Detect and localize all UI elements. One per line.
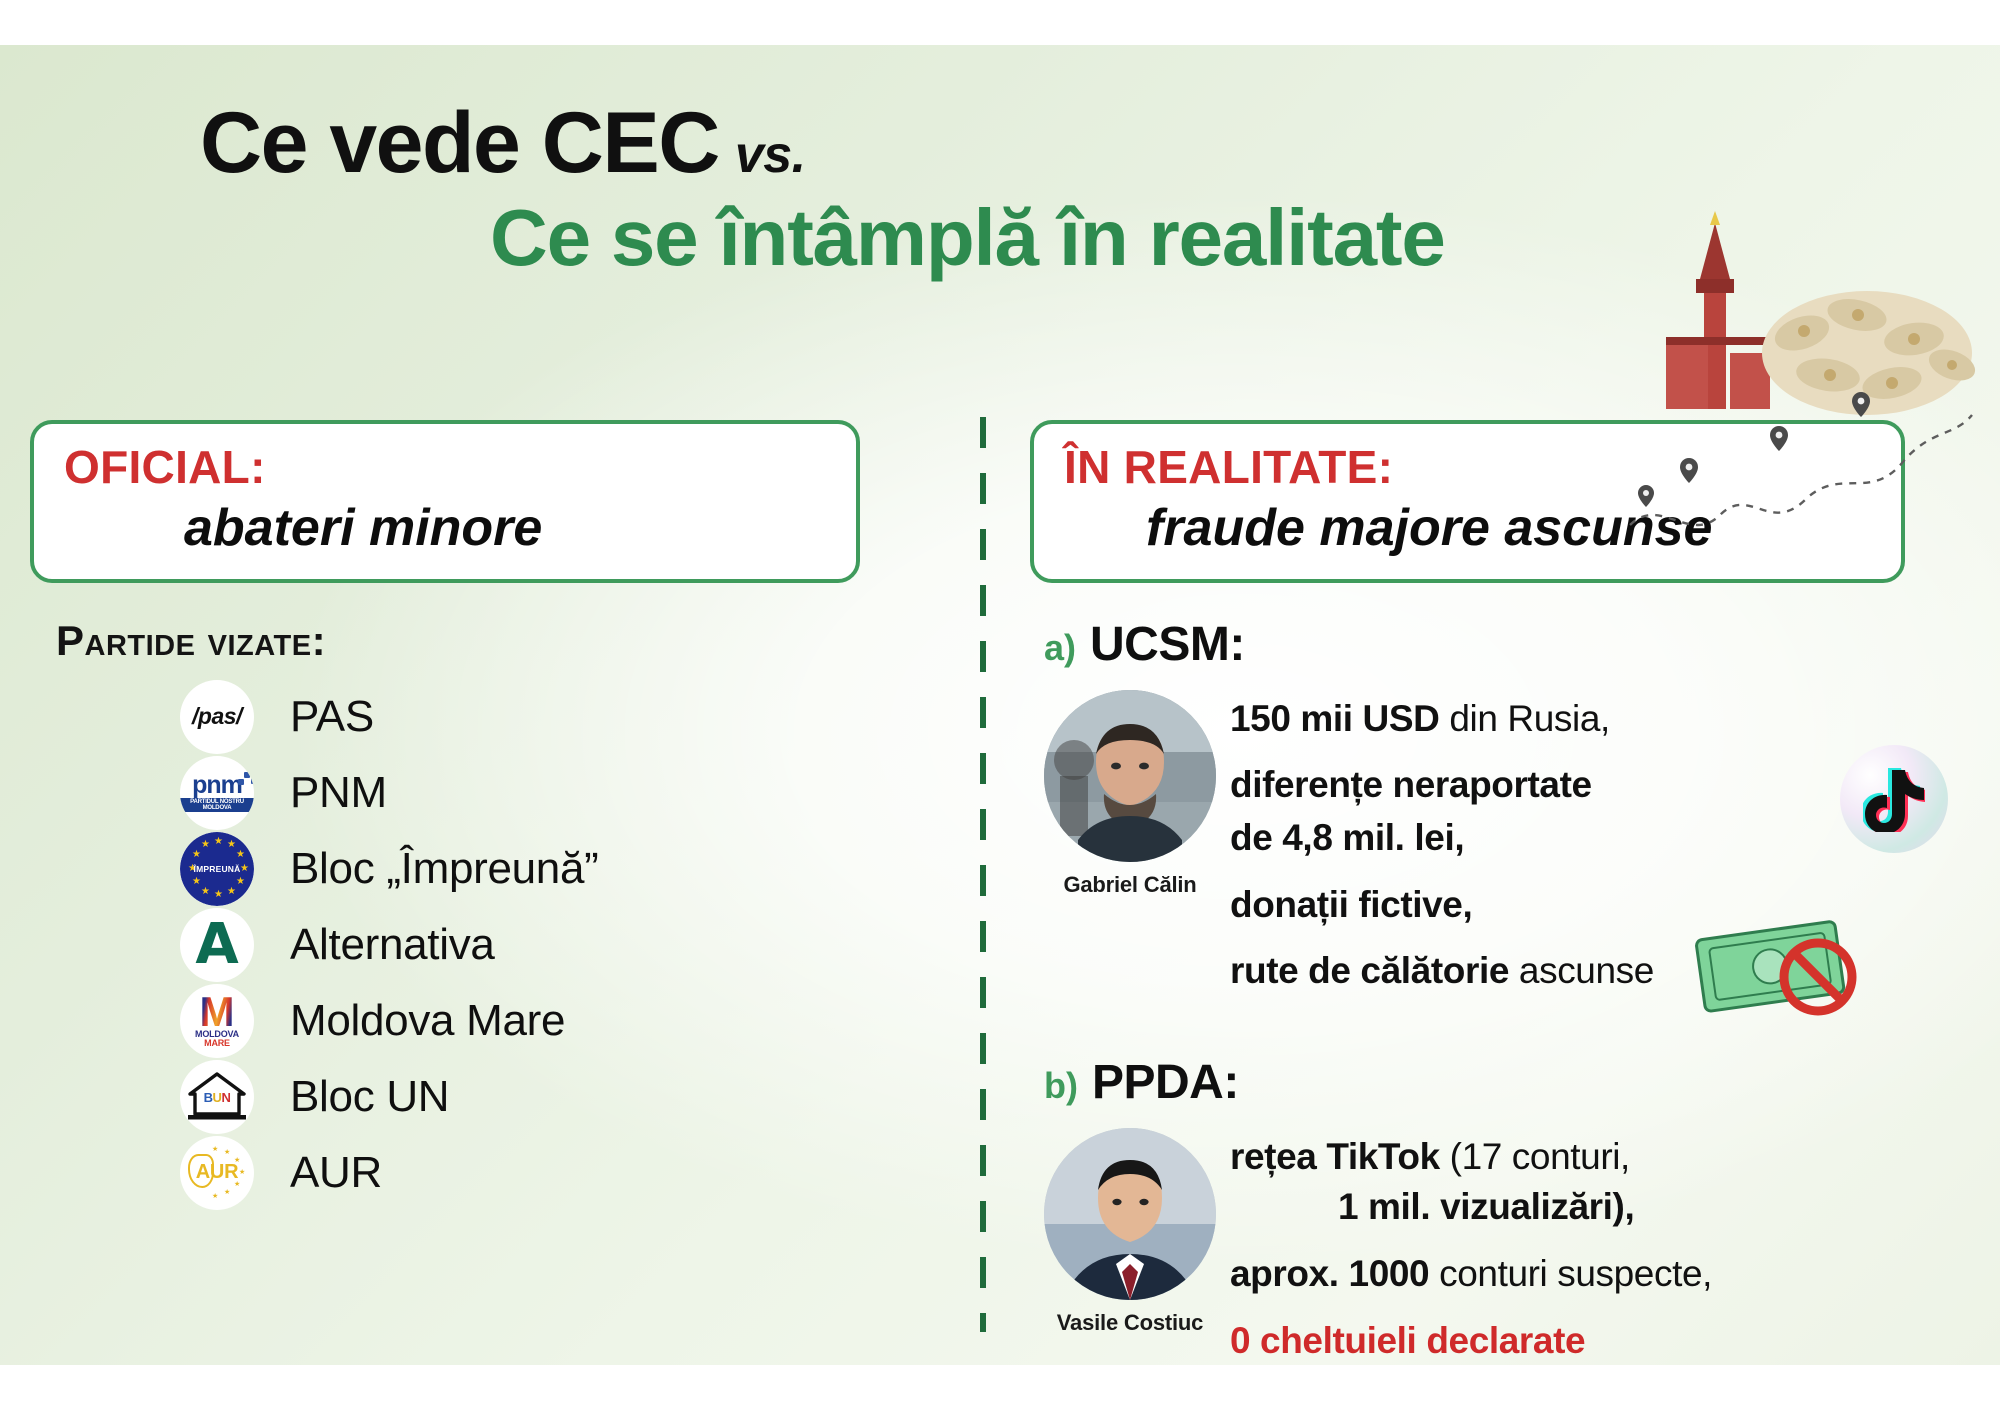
aur-logo-icon: ★ ★ ★ ★ ★ ★ ★ AUR xyxy=(180,1136,254,1210)
pnm-logo-icon: pnm PARTIDUL NOSTRU MOLDOVA xyxy=(180,756,254,830)
bun-house-logo-icon: BUN xyxy=(180,1060,254,1134)
moldova-mare-logo-text: M xyxy=(195,994,239,1030)
fact-bold: 1 mil. vizualizări), xyxy=(1338,1186,1634,1227)
party-name: Bloc UN xyxy=(290,1072,449,1122)
fact-bold: donații fictive, xyxy=(1230,884,1472,925)
bun-logo-text: BUN xyxy=(186,1090,248,1105)
party-name: PAS xyxy=(290,692,374,742)
pas-logo-icon: /pas/ xyxy=(180,680,254,754)
moldova-mare-logo-icon: M MOLDOVA MARE xyxy=(180,984,254,1058)
fact-bold: 150 mii USD xyxy=(1230,698,1439,739)
person-ppda: Vasile Costiuc xyxy=(1030,1120,1230,1365)
impreuna-logo-text: ÎMPREUNĂ xyxy=(194,864,241,874)
list-item[interactable]: ★ ★ ★ ★ ★ ★ ★ AUR AUR xyxy=(180,1135,960,1211)
party-name: Alternativa xyxy=(290,920,495,970)
item-label: UCSM: xyxy=(1090,617,1245,672)
pnm-logo-subtext: PARTIDUL NOSTRU MOLDOVA xyxy=(180,798,254,812)
facts-ucsm: 150 mii USD din Rusia, diferențe nerapor… xyxy=(1230,682,1654,1015)
alternativa-logo-text: A xyxy=(195,917,238,973)
item-marker: a) xyxy=(1044,627,1076,669)
official-card-value: abateri minore xyxy=(64,499,826,557)
parties-list: /pas/ PAS pnm PARTIDUL NOSTRU MOLDOVA xyxy=(180,679,960,1211)
pas-logo-text: /pas/ xyxy=(192,703,242,730)
fact-item: 150 mii USD din Rusia, xyxy=(1230,696,1654,743)
fact-bold: diferențe neraportate xyxy=(1230,764,1592,805)
fact-bold: rute de călătorie xyxy=(1230,950,1509,991)
fact-item: donații fictive, xyxy=(1230,882,1654,929)
official-card: OFICIAL: abateri minore xyxy=(30,420,860,583)
item-body-ppda: Vasile Costiuc rețea TikTok (17 conturi,… xyxy=(1030,1120,1960,1365)
party-name: Moldova Mare xyxy=(290,996,565,1046)
list-item[interactable]: M MOLDOVA MARE Moldova Mare xyxy=(180,983,960,1059)
party-name: Bloc „Împreună” xyxy=(290,844,599,894)
person-name: Vasile Costiuc xyxy=(1030,1310,1230,1336)
list-item[interactable]: A Alternativa xyxy=(180,907,960,983)
item-title-ucsm: a) UCSM: xyxy=(1044,617,1960,672)
vertical-dashed-divider xyxy=(980,417,986,1332)
fact-rest: din Rusia, xyxy=(1439,698,1609,739)
pnm-logo-text: pnm xyxy=(192,771,242,799)
person-ucsm: Gabriel Călin xyxy=(1030,682,1230,1015)
person-name: Gabriel Călin xyxy=(1030,872,1230,898)
right-column-reality: ÎN REALITATE: fraude majore ascunse a) U… xyxy=(1030,420,1960,1360)
aur-logo-text: AUR xyxy=(196,1161,238,1184)
title-main-text: Ce vede CEC xyxy=(200,95,719,191)
fact-rest: ascunse xyxy=(1509,950,1654,991)
title-line-1: Ce vede CECvs. xyxy=(200,100,1860,188)
reality-item-ppda: b) PPDA: xyxy=(1030,1055,1960,1365)
portrait-photo xyxy=(1044,690,1216,862)
avatar xyxy=(1044,1128,1216,1300)
list-item[interactable]: pnm PARTIDUL NOSTRU MOLDOVA PNM xyxy=(180,755,960,831)
official-card-kicker: OFICIAL: xyxy=(64,442,826,493)
party-name: AUR xyxy=(290,1148,382,1198)
portrait-photo xyxy=(1044,1128,1216,1300)
left-column-official: OFICIAL: abateri minore Partide vizate: … xyxy=(30,420,960,1360)
facts-ppda: rețea TikTok (17 conturi, 1 mil. vizuali… xyxy=(1230,1120,1712,1365)
reality-card-value: fraude majore ascunse xyxy=(1064,499,1871,557)
reality-card: ÎN REALITATE: fraude majore ascunse xyxy=(1030,420,1905,583)
avatar xyxy=(1044,690,1216,862)
fact-bold: rețea TikTok xyxy=(1230,1136,1440,1177)
page-title: Ce vede CECvs. Ce se întâmplă în realita… xyxy=(200,100,1860,280)
item-body-ucsm: Gabriel Călin 150 mii USD din Rusia, dif… xyxy=(1030,682,1960,1015)
list-item[interactable]: /pas/ PAS xyxy=(180,679,960,755)
fact-rest: (17 conturi, xyxy=(1440,1136,1630,1177)
top-white-strip xyxy=(0,0,2000,45)
item-label: PPDA: xyxy=(1092,1055,1239,1110)
parties-heading: Partide vizate: xyxy=(56,617,960,665)
list-item[interactable]: BUN Bloc UN xyxy=(180,1059,960,1135)
moldova-mare-logo-subtext-2: MARE xyxy=(195,1039,239,1048)
title-vs-text: vs. xyxy=(735,126,806,184)
alternativa-logo-icon: A xyxy=(180,908,254,982)
infographic-poster: Ce vede CECvs. Ce se întâmplă în realita… xyxy=(0,0,2000,1414)
reality-item-ucsm: a) UCSM: xyxy=(1030,617,1960,1015)
item-title-ppda: b) PPDA: xyxy=(1044,1055,1960,1110)
item-marker: b) xyxy=(1044,1065,1078,1107)
fact-item: diferențe neraportate xyxy=(1230,762,1654,809)
fact-item-highlight: 0 cheltuieli declarate xyxy=(1230,1318,1712,1365)
party-name: PNM xyxy=(290,768,387,818)
fact-item: aprox. 1000 conturi suspecte, xyxy=(1230,1251,1712,1298)
poster-canvas: Ce vede CECvs. Ce se întâmplă în realita… xyxy=(0,45,2000,1365)
fact-item: rețea TikTok (17 conturi, xyxy=(1230,1134,1712,1181)
fact-bold: de 4,8 mil. lei, xyxy=(1230,817,1464,858)
fact-item: de 4,8 mil. lei, xyxy=(1230,815,1654,862)
fact-bold: aprox. 1000 xyxy=(1230,1253,1429,1294)
list-item[interactable]: ★ ★ ★ ★ ★ ★ ★ ★ ★ ★ ★ ★ ÎMPREUNĂ xyxy=(180,831,960,907)
reality-card-kicker: ÎN REALITATE: xyxy=(1064,442,1871,493)
bottom-white-strip xyxy=(0,1365,2000,1414)
title-line-2: Ce se întâmplă în realitate xyxy=(200,196,1860,280)
fact-item: rute de călătorie ascunse xyxy=(1230,948,1654,995)
fact-rest: conturi suspecte, xyxy=(1429,1253,1712,1294)
eu-circle: ★ ★ ★ ★ ★ ★ ★ ★ ★ ★ ★ ★ ÎMPREUNĂ xyxy=(180,832,254,906)
impreuna-eu-logo-icon: ★ ★ ★ ★ ★ ★ ★ ★ ★ ★ ★ ★ ÎMPREUNĂ xyxy=(180,832,254,906)
fact-item: 1 mil. vizualizări), xyxy=(1230,1184,1712,1231)
